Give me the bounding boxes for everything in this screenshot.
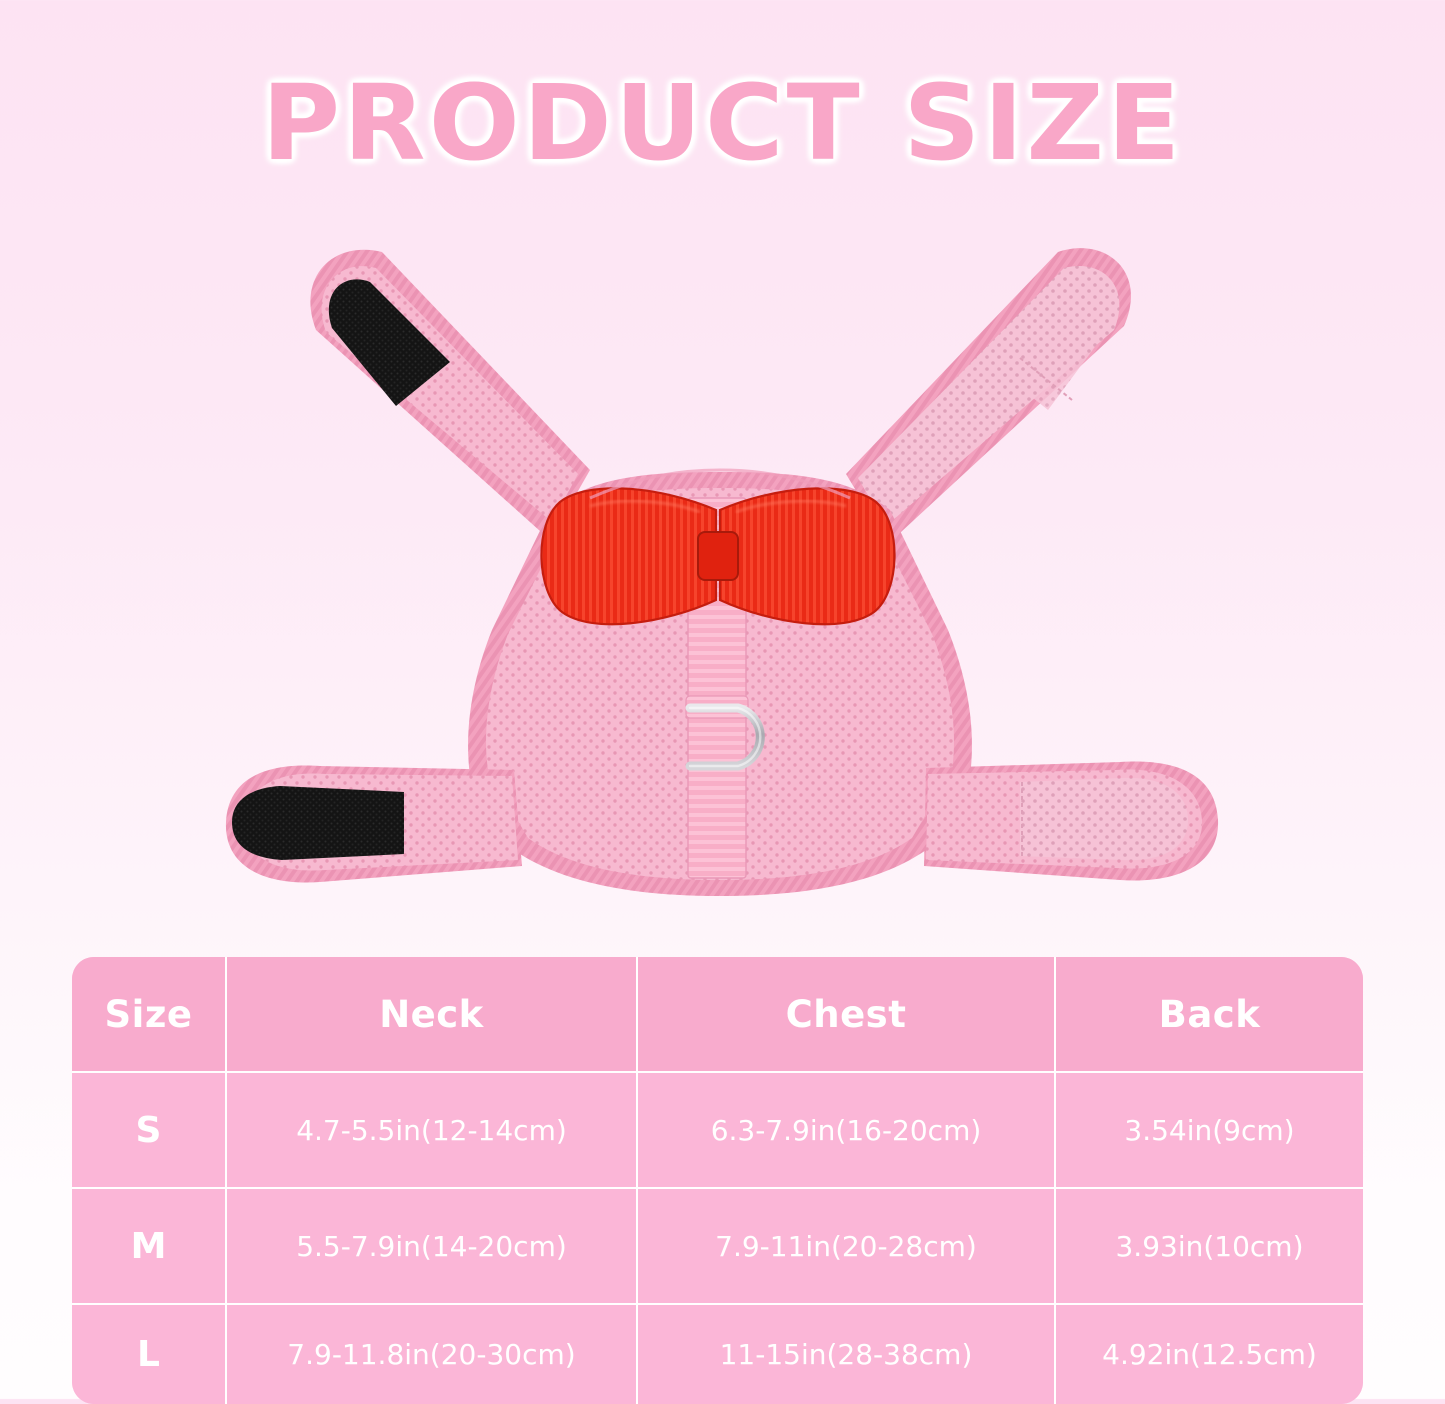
left-chest-wing bbox=[226, 765, 522, 882]
cell-back: 3.93in(10cm) bbox=[1054, 1189, 1363, 1303]
cell-size: S bbox=[72, 1073, 225, 1187]
column-header-back: Back bbox=[1054, 957, 1363, 1071]
table-row: M 5.5-7.9in(14-20cm) 7.9-11in(20-28cm) 3… bbox=[72, 1187, 1363, 1303]
table-header-row: Size Neck Chest Back bbox=[72, 957, 1363, 1071]
product-image-area bbox=[0, 200, 1445, 940]
cell-back: 3.54in(9cm) bbox=[1054, 1073, 1363, 1187]
cell-neck: 5.5-7.9in(14-20cm) bbox=[225, 1189, 636, 1303]
column-header-chest: Chest bbox=[636, 957, 1054, 1071]
cell-neck: 7.9-11.8in(20-30cm) bbox=[225, 1305, 636, 1404]
cell-chest: 6.3-7.9in(16-20cm) bbox=[636, 1073, 1054, 1187]
cell-back: 4.92in(12.5cm) bbox=[1054, 1305, 1363, 1404]
page-title-container: PRODUCT SIZE bbox=[0, 62, 1445, 184]
cell-size: L bbox=[72, 1305, 225, 1404]
pet-harness-photo bbox=[120, 210, 1320, 930]
column-header-size: Size bbox=[72, 957, 225, 1071]
right-shoulder-strap bbox=[846, 248, 1131, 544]
size-chart-table: Size Neck Chest Back S 4.7-5.5in(12-14cm… bbox=[72, 957, 1363, 1404]
cell-size: M bbox=[72, 1189, 225, 1303]
page-title: PRODUCT SIZE bbox=[262, 62, 1184, 184]
column-header-neck: Neck bbox=[225, 957, 636, 1071]
cell-neck: 4.7-5.5in(12-14cm) bbox=[225, 1073, 636, 1187]
left-shoulder-strap bbox=[310, 250, 590, 540]
right-chest-wing bbox=[924, 761, 1218, 880]
cell-chest: 7.9-11in(20-28cm) bbox=[636, 1189, 1054, 1303]
table-row: L 7.9-11.8in(20-30cm) 11-15in(28-38cm) 4… bbox=[72, 1303, 1363, 1404]
cell-chest: 11-15in(28-38cm) bbox=[636, 1305, 1054, 1404]
table-row: S 4.7-5.5in(12-14cm) 6.3-7.9in(16-20cm) … bbox=[72, 1071, 1363, 1187]
